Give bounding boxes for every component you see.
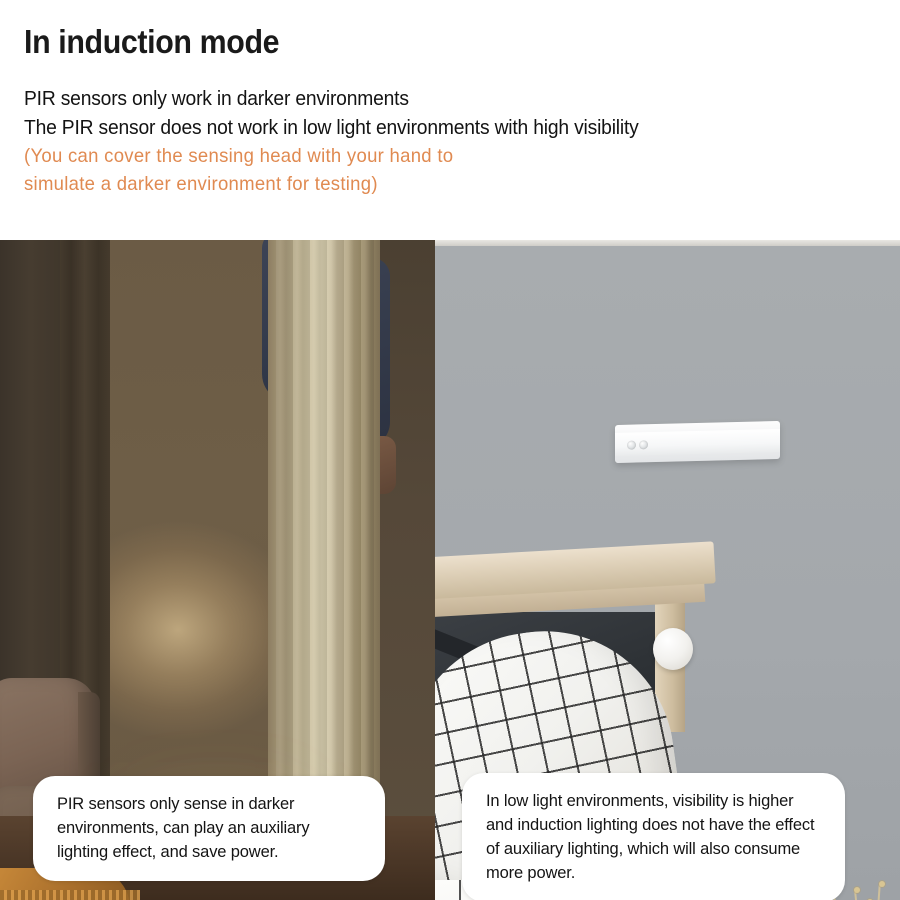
right-pillow-pompom bbox=[653, 628, 693, 670]
right-ceiling-line bbox=[435, 240, 900, 246]
flower-bud bbox=[854, 887, 860, 893]
flower-stem bbox=[871, 885, 880, 900]
header-text-block: In induction mode PIR sensors only work … bbox=[0, 0, 900, 240]
flower-bud bbox=[879, 881, 885, 887]
page-title: In induction mode bbox=[24, 22, 830, 62]
caption-bubble-right: In low light environments, visibility is… bbox=[462, 773, 845, 900]
left-rug-fringe bbox=[0, 890, 140, 900]
product-infographic: In induction mode PIR sensors only work … bbox=[0, 0, 900, 900]
note-line-2: simulate a darker environment for testin… bbox=[24, 170, 856, 198]
pir-light-bar-off bbox=[615, 421, 780, 463]
subtitle-line-1: PIR sensors only work in darker environm… bbox=[24, 84, 847, 113]
subtitle-block: PIR sensors only work in darker environm… bbox=[24, 84, 900, 198]
caption-bubble-left: PIR sensors only sense in darker environ… bbox=[33, 776, 385, 881]
note-line-1: (You can cover the sensing head with you… bbox=[24, 142, 856, 170]
subtitle-line-2: The PIR sensor does not work in low ligh… bbox=[24, 113, 847, 142]
